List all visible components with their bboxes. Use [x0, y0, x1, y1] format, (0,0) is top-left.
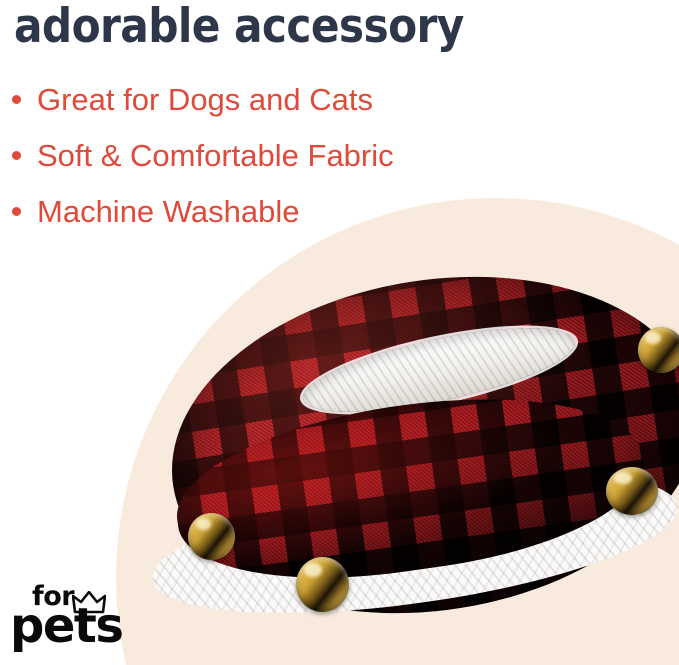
bullet-icon [12, 207, 21, 216]
feature-label: Machine Washable [37, 192, 300, 232]
list-item: Soft & Comfortable Fabric [12, 136, 532, 176]
page-title: adorable accessory [14, 0, 464, 56]
brand-logo: for pets [8, 583, 198, 655]
product-feature-image: adorable accessory Great for Dogs and Ca… [0, 0, 679, 665]
feature-label: Great for Dogs and Cats [37, 80, 373, 120]
bullet-icon [12, 151, 21, 160]
bell-right-upper-icon [638, 327, 679, 373]
brand-logo-line-2: pets [10, 601, 122, 651]
list-item: Great for Dogs and Cats [12, 80, 532, 120]
bell-left-icon [188, 513, 235, 560]
bell-right-lower-icon [606, 467, 658, 515]
bullet-icon [12, 95, 21, 104]
feature-list: Great for Dogs and Cats Soft & Comfortab… [12, 80, 532, 248]
bell-center-icon [296, 557, 349, 612]
feature-label: Soft & Comfortable Fabric [37, 136, 394, 176]
list-item: Machine Washable [12, 192, 532, 232]
